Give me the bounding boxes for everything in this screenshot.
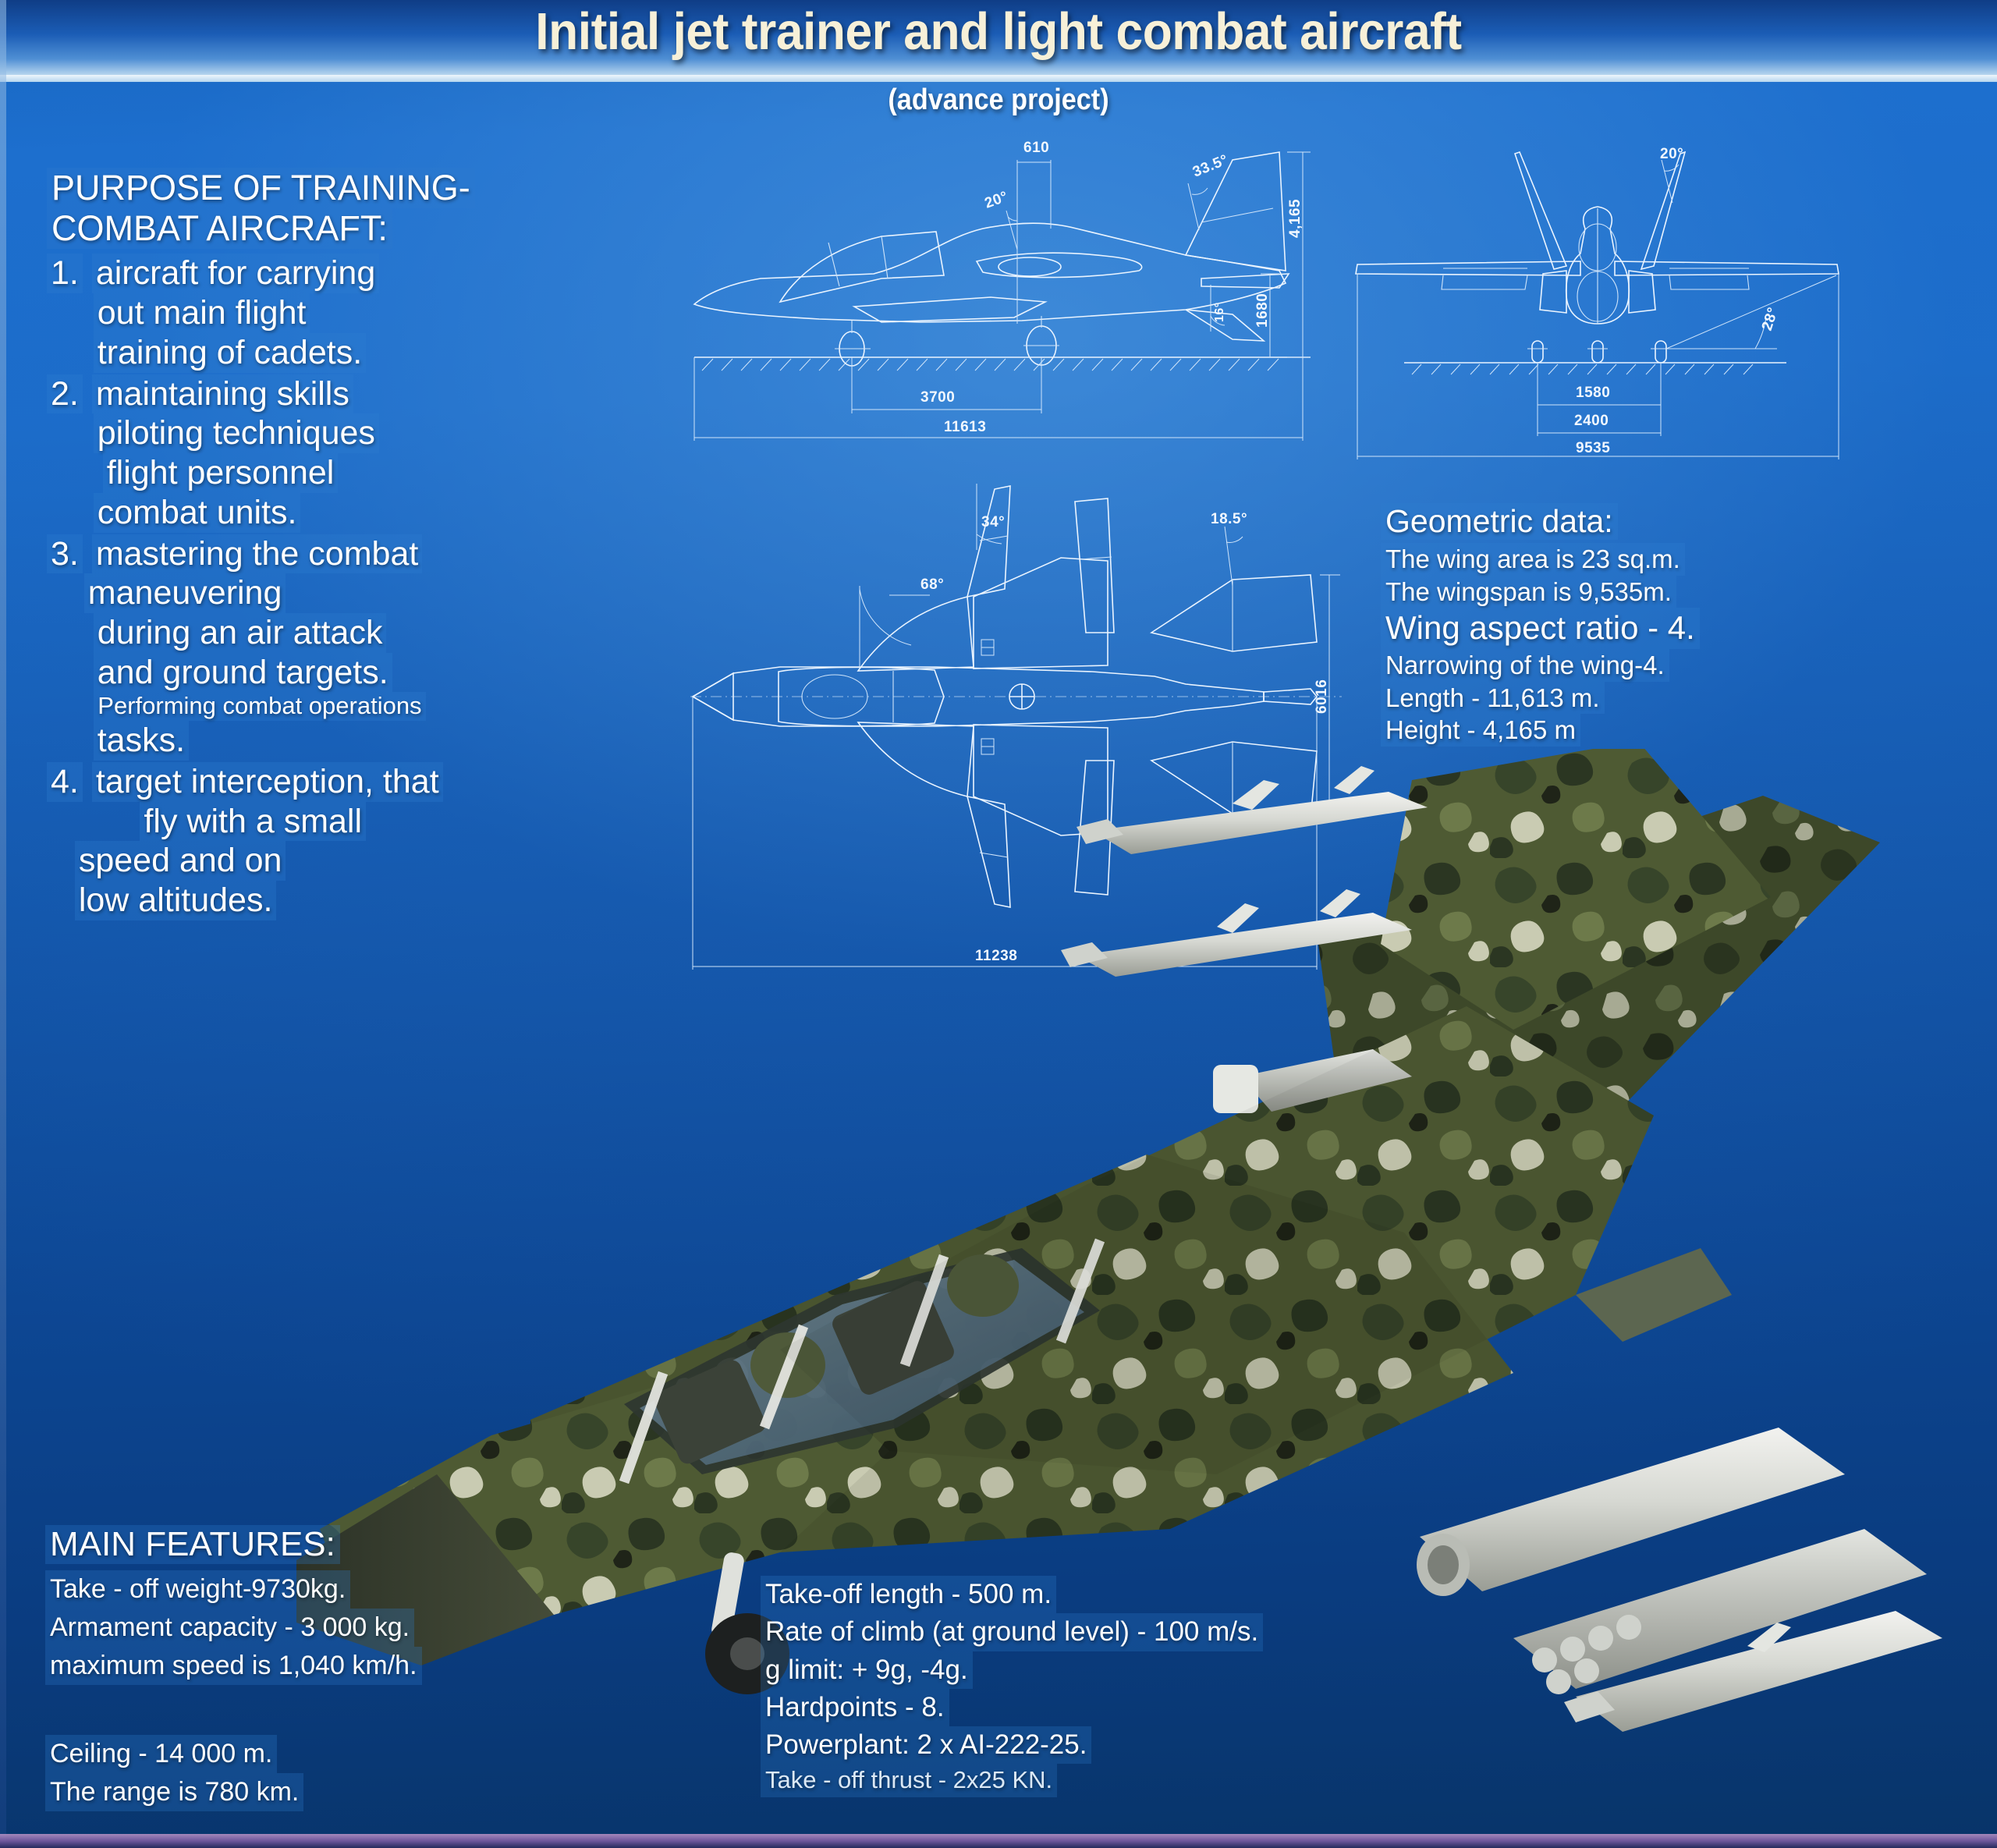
svg-text:1580: 1580	[1576, 385, 1610, 401]
side-view-drawing: 610 20° 33.5° 16° 4,165 1680	[686, 137, 1334, 449]
purpose-item-2-num: 2.	[47, 374, 83, 414]
main-features-row-2: Armament capacity - 3 000 kg.	[45, 1609, 693, 1647]
purpose-heading-line2: COMBAT AIRCRAFT:	[47, 208, 392, 249]
main-features-row-3: maximum speed is 1,040 km/h.	[45, 1647, 693, 1685]
purpose-item-3-num: 3.	[47, 534, 83, 574]
main-features-block: MAIN FEATURES: Take - off weight-9730kg.…	[45, 1525, 693, 1811]
bottom-frame-edge	[0, 1834, 1997, 1848]
performance-row-4: Hardpoints - 8.	[761, 1689, 1463, 1726]
purpose-item-3-line-2: maneuvering	[84, 573, 286, 613]
geometric-data-row-3: Wing aspect ratio - 4.	[1381, 608, 1880, 649]
main-features-row-1: Take - off weight-9730kg.	[45, 1570, 693, 1609]
svg-text:20°: 20°	[983, 189, 1011, 212]
purpose-item-1-line-1: aircraft for carrying	[92, 254, 379, 293]
purpose-item-4-num: 4.	[47, 762, 83, 802]
svg-text:18.5°: 18.5°	[1211, 511, 1247, 527]
purpose-item-3-line-5: Performing combat operations	[94, 692, 425, 721]
svg-text:20°: 20°	[1660, 146, 1683, 162]
geometric-data-block: Geometric data: The wing area is 23 sq.m…	[1381, 503, 1880, 747]
geometric-data-title: Geometric data:	[1381, 503, 1880, 540]
poster-root: Initial jet trainer and light combat air…	[0, 0, 1997, 1848]
purpose-item-1-num: 1.	[47, 254, 83, 293]
svg-text:3700: 3700	[920, 389, 955, 406]
purpose-item-2-line-4: combat units.	[94, 493, 301, 533]
purpose-item-3: 3. mastering the combat maneuvering duri…	[47, 534, 671, 761]
purpose-item-1-line-3: training of cadets.	[94, 333, 366, 373]
svg-text:68°: 68°	[920, 576, 944, 593]
performance-row-1: Take-off length - 500 m.	[761, 1576, 1463, 1613]
svg-text:6016: 6016	[1314, 679, 1330, 714]
performance-row-3: g limit: + 9g, -4g.	[761, 1651, 1463, 1689]
purpose-heading: PURPOSE OF TRAINING- COMBAT AIRCRAFT:	[47, 168, 671, 249]
left-frame-edge	[0, 0, 6, 1848]
page-subtitle: (advance project)	[100, 83, 1897, 117]
main-features-gap	[45, 1685, 693, 1735]
purpose-item-3-line-1: mastering the combat	[92, 534, 422, 574]
main-features-title: MAIN FEATURES:	[45, 1525, 693, 1564]
geometric-data-row-1: The wing area is 23 sq.m.	[1381, 543, 1880, 576]
svg-text:2400: 2400	[1574, 413, 1609, 429]
geometric-data-row-5: Length - 11,613 m.	[1381, 682, 1880, 715]
svg-text:4,165: 4,165	[1287, 199, 1304, 238]
page-title: Initial jet trainer and light combat air…	[70, 2, 1928, 62]
performance-row-2: Rate of climb (at ground level) - 100 m/…	[761, 1613, 1463, 1651]
svg-text:1680: 1680	[1254, 293, 1271, 328]
purpose-item-2-line-1: maintaining skills	[92, 374, 353, 414]
purpose-item-3-line-3: during an air attack	[94, 613, 387, 653]
geometric-data-row-4: Narrowing of the wing-4.	[1381, 649, 1880, 682]
performance-row-6: Take - off thrust - 2x25 KN.	[761, 1764, 1463, 1797]
purpose-item-4-line-4: low altitudes.	[75, 881, 277, 920]
svg-text:28°: 28°	[1759, 305, 1782, 332]
performance-features-block: Take-off length - 500 m. Rate of climb (…	[761, 1576, 1463, 1797]
svg-text:16°: 16°	[1213, 302, 1226, 322]
svg-text:610: 610	[1023, 140, 1049, 156]
purpose-item-4-line-3: speed and on	[75, 841, 286, 881]
purpose-item-2-line-2: piloting techniques	[94, 413, 379, 453]
performance-row-5: Powerplant: 2 x AI-222-25.	[761, 1726, 1463, 1764]
purpose-item-3-line-4: and ground targets.	[94, 653, 392, 693]
geometric-data-row-6: Height - 4,165 m	[1381, 714, 1880, 747]
svg-text:11613: 11613	[944, 419, 986, 435]
main-features-row-5: The range is 780 km.	[45, 1773, 693, 1811]
purpose-item-2-line-3: flight personnel	[103, 453, 339, 493]
svg-text:9535: 9535	[1576, 440, 1610, 456]
front-view-drawing: 20° 28° 1580 2400 9535	[1350, 137, 1896, 464]
purpose-item-1-line-2: out main flight	[94, 293, 310, 333]
purpose-item-3-line-6: tasks.	[94, 721, 189, 761]
purpose-heading-line1: PURPOSE OF TRAINING-	[47, 168, 475, 208]
purpose-item-1: 1. aircraft for carrying out main flight…	[47, 254, 671, 372]
main-features-row-4: Ceiling - 14 000 m.	[45, 1735, 693, 1773]
geometric-data-row-2: The wingspan is 9,535m.	[1381, 576, 1880, 608]
purpose-item-2: 2. maintaining skills piloting technique…	[47, 374, 671, 533]
svg-text:34°: 34°	[981, 514, 1005, 530]
